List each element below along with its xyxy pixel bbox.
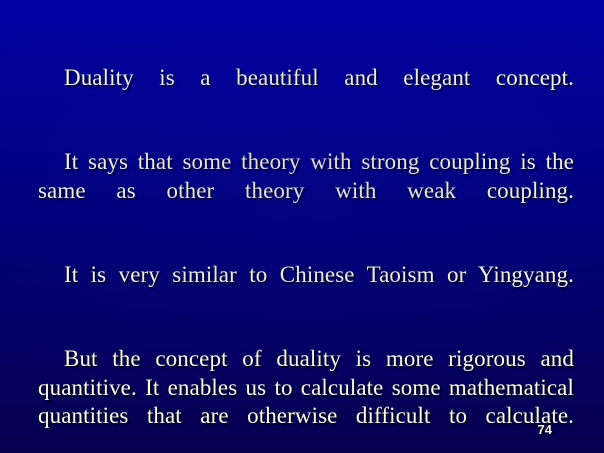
paragraph-strong-weak-coupling: It says that some theory with strong cou… xyxy=(38,148,574,234)
page-number: 74 xyxy=(538,422,552,437)
presentation-slide: Duality is a beautiful and elegant conce… xyxy=(0,0,604,453)
paragraph-duality-beautiful: Duality is a beautiful and elegant conce… xyxy=(38,64,574,121)
paragraph-rigorous-quantitive: But the concept of duality is more rigor… xyxy=(38,345,574,453)
slide-body-text: Duality is a beautiful and elegant conce… xyxy=(38,64,574,453)
paragraph-taoism-yingyang: It is very similar to Chinese Taoism or … xyxy=(38,261,574,318)
